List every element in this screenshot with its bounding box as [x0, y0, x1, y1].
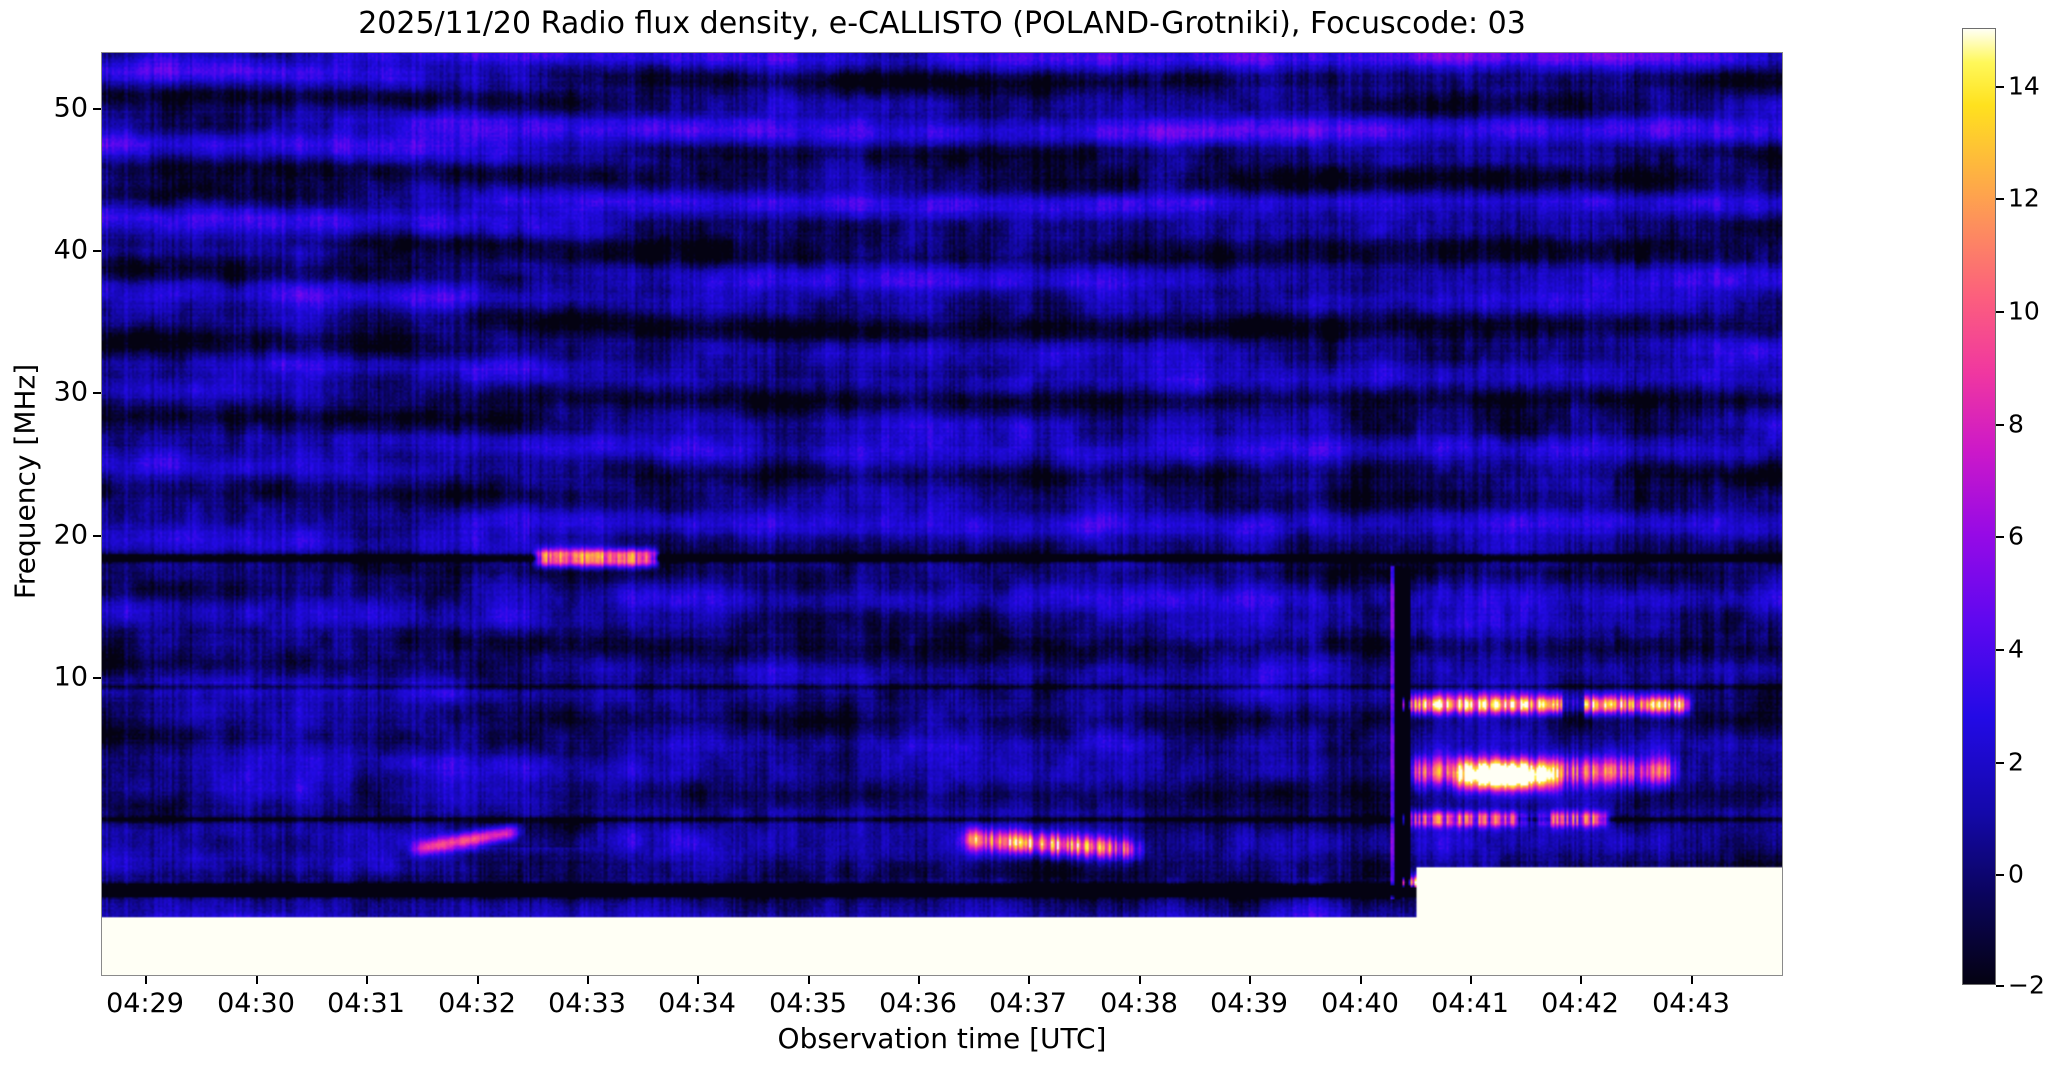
x-tick-mark: [697, 976, 699, 984]
x-tick-mark: [1360, 976, 1362, 984]
x-tick-mark: [808, 976, 810, 984]
colorbar-tick-label: 2: [2008, 748, 2024, 777]
y-tick-label: 50: [8, 95, 88, 122]
colorbar-tick-mark: [1996, 649, 2004, 651]
colorbar-tick-label: 0: [2008, 860, 2024, 889]
colorbar-tick-mark: [1996, 985, 2004, 987]
x-tick-mark: [1691, 976, 1693, 984]
page-title: 2025/11/20 Radio flux density, e-CALLIST…: [0, 6, 1884, 41]
y-tick-mark: [93, 392, 101, 394]
x-tick-mark: [145, 976, 147, 984]
x-axis-title: Observation time [UTC]: [101, 1022, 1783, 1055]
x-tick-mark: [477, 976, 479, 984]
colorbar-tick-mark: [1996, 311, 2004, 313]
y-tick-mark: [93, 250, 101, 252]
y-tick-mark: [93, 535, 101, 537]
colorbar-tick-mark: [1996, 198, 2004, 200]
colorbar-tick-label: −2: [2008, 971, 2045, 1000]
x-tick-mark: [1470, 976, 1472, 984]
colorbar-tick-label: 4: [2008, 635, 2024, 664]
y-axis-title: Frequency [MHz]: [9, 252, 42, 712]
colorbar-tick-label: 12: [2008, 184, 2040, 213]
colorbar-tick-label: 10: [2008, 297, 2040, 326]
x-tick-mark: [918, 976, 920, 984]
colorbar-tick-mark: [1996, 424, 2004, 426]
colorbar-tick-mark: [1996, 536, 2004, 538]
y-tick-mark: [93, 677, 101, 679]
colorbar-tick-mark: [1996, 874, 2004, 876]
spectrogram-image: [102, 53, 1782, 975]
y-tick-mark: [93, 108, 101, 110]
x-tick-mark: [256, 976, 258, 984]
x-tick-mark: [1028, 976, 1030, 984]
x-tick-mark: [1580, 976, 1582, 984]
x-tick-mark: [587, 976, 589, 984]
colorbar-tick-label: 6: [2008, 522, 2024, 551]
colorbar-tick-label: 14: [2008, 72, 2040, 101]
colorbar[interactable]: [1962, 28, 1996, 985]
spectrogram-plot-area[interactable]: [101, 52, 1783, 976]
x-tick-mark: [1249, 976, 1251, 984]
colorbar-tick-label: 8: [2008, 410, 2024, 439]
x-tick-label: 04:43: [1611, 988, 1771, 1019]
colorbar-tick-mark: [1996, 762, 2004, 764]
x-tick-mark: [1139, 976, 1141, 984]
colorbar-tick-mark: [1996, 86, 2004, 88]
x-tick-mark: [366, 976, 368, 984]
colorbar-gradient: [1962, 28, 1996, 985]
